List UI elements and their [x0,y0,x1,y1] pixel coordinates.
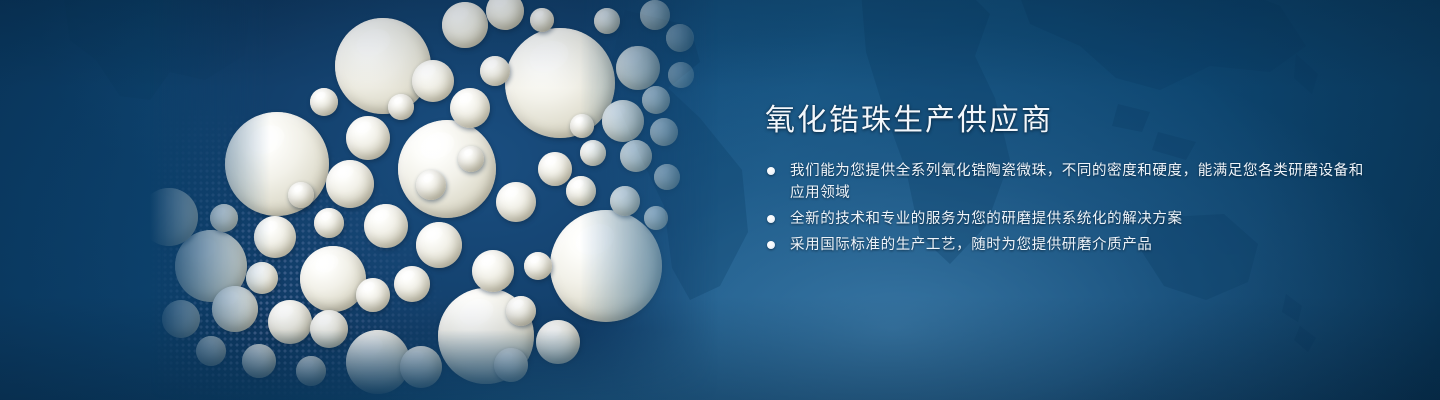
page-title: 氧化锆珠生产供应商 [765,104,1365,138]
list-item-label: 全新的技术和专业的服务为您的研磨提供系统化的解决方案 [790,211,1183,227]
list-item: 采用国际标准的生产工艺，随时为您提供研磨介质产品 [765,234,1365,256]
banner-copy: 氧化锆珠生产供应商 我们能为您提供全系列氧化锆陶瓷微珠，不同的密度和硬度，能满足… [765,104,1365,260]
feature-list: 我们能为您提供全系列氧化锆陶瓷微珠，不同的密度和硬度，能满足您各类研磨设备和应用… [765,160,1365,256]
list-item-label: 我们能为您提供全系列氧化锆陶瓷微珠，不同的密度和硬度，能满足您各类研磨设备和应用… [790,163,1364,201]
bullet-dot-icon [767,215,775,223]
bullet-dot-icon [767,241,775,249]
bullet-dot-icon [767,167,775,175]
list-item: 我们能为您提供全系列氧化锆陶瓷微珠，不同的密度和硬度，能满足您各类研磨设备和应用… [765,160,1365,204]
list-item: 全新的技术和专业的服务为您的研磨提供系统化的解决方案 [765,208,1365,230]
hero-banner: 氧化锆珠生产供应商 我们能为您提供全系列氧化锆陶瓷微珠，不同的密度和硬度，能满足… [0,0,1440,400]
list-item-label: 采用国际标准的生产工艺，随时为您提供研磨介质产品 [790,237,1152,253]
